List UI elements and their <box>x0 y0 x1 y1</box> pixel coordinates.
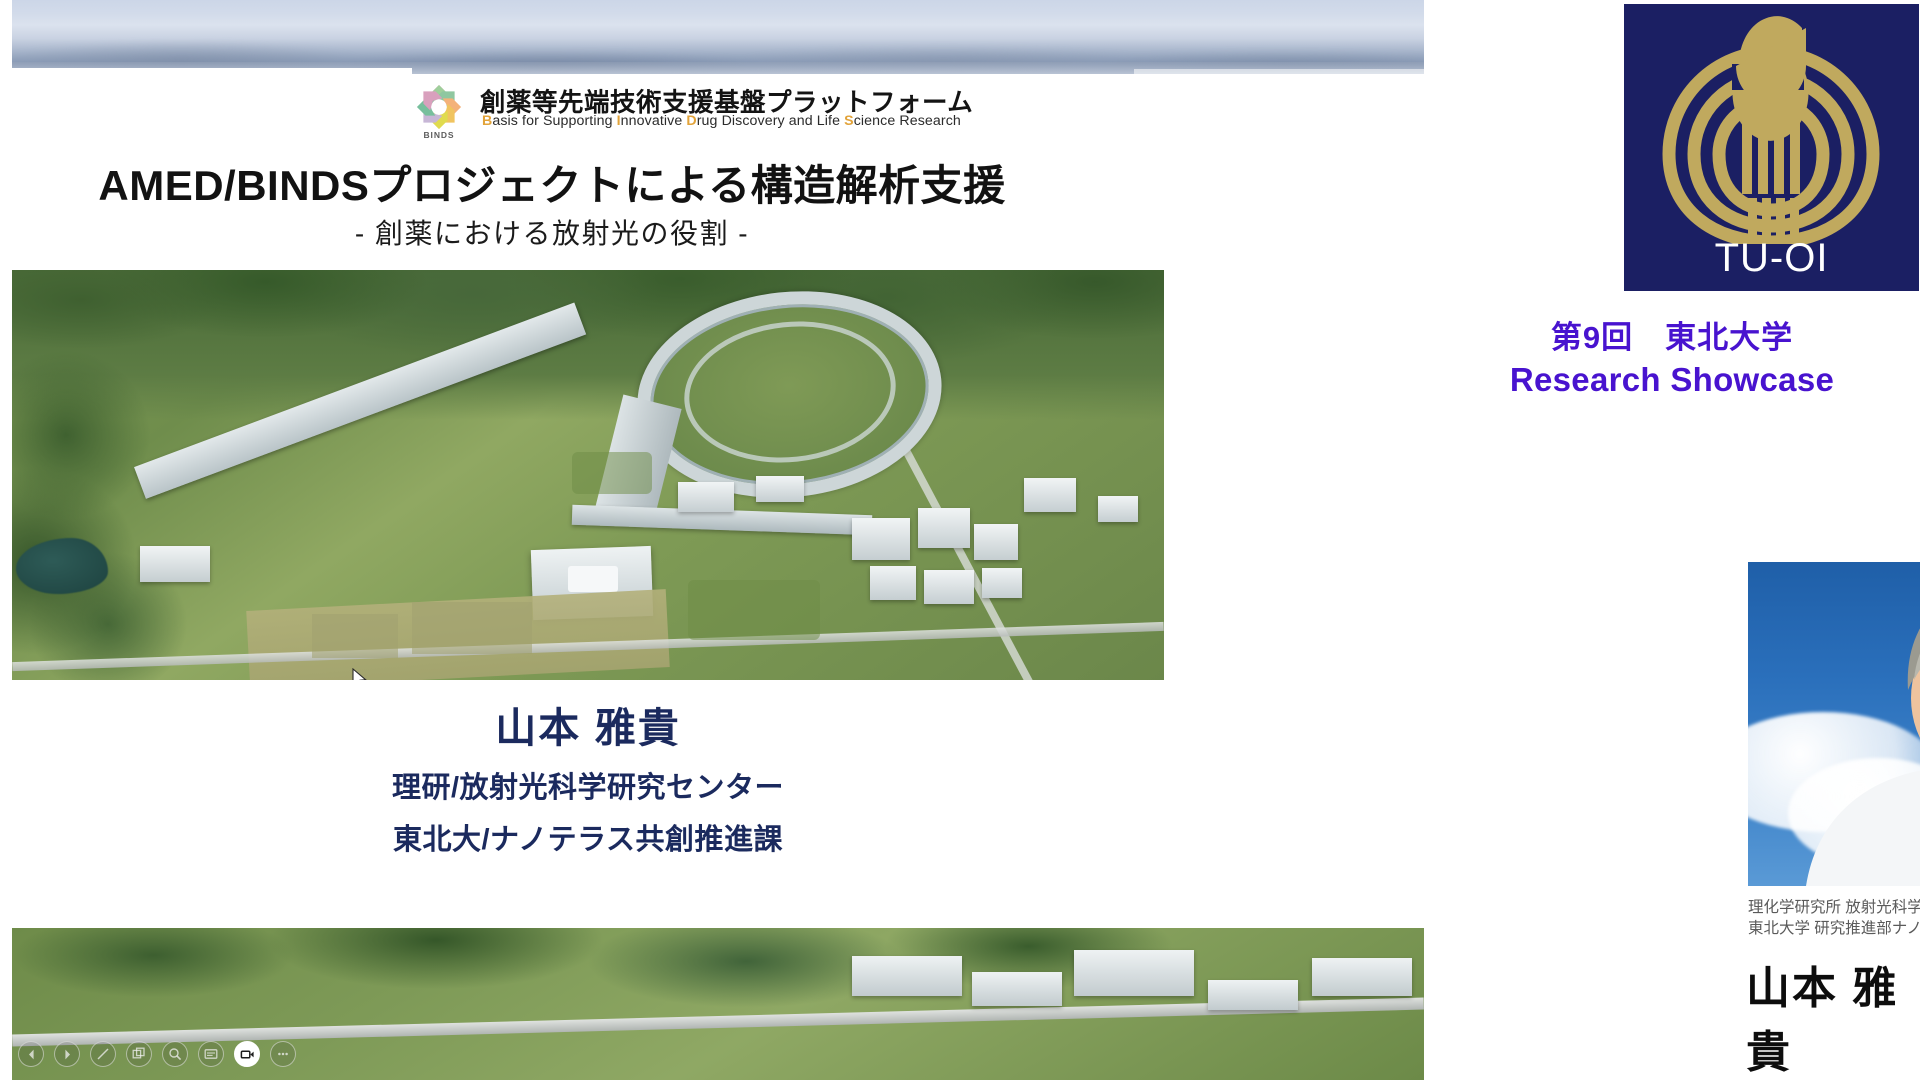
building <box>140 546 210 582</box>
building <box>870 566 916 600</box>
binds-subtitle-text: cience Research <box>854 113 961 129</box>
ground-plot <box>412 602 532 654</box>
previous-slide-sliver[interactable] <box>12 0 1424 74</box>
building <box>1312 958 1412 996</box>
binds-subtitle-en: Basis for Supporting Innovative Drug Dis… <box>482 113 961 129</box>
building <box>1098 496 1138 522</box>
pen-slash-icon <box>95 1046 111 1062</box>
building <box>1074 950 1194 996</box>
binds-acronym-letter: D <box>686 113 696 129</box>
view-options-button[interactable] <box>126 1041 152 1067</box>
tuoi-emblem-icon <box>1624 4 1919 244</box>
presenter-figure <box>1748 562 1920 886</box>
building <box>756 476 804 502</box>
presentation-toolbar[interactable] <box>18 1036 296 1072</box>
binds-acronym-letter: S <box>844 113 854 129</box>
facility-aerial-image <box>12 270 1164 680</box>
play-icon <box>61 1048 74 1061</box>
shared-slide-viewport[interactable]: BINDS 創薬等先端技術支援基盤プラットフォーム Basis for Supp… <box>0 0 1424 1080</box>
windows-icon <box>132 1047 146 1061</box>
chevron-left-icon <box>25 1048 38 1061</box>
binds-acronym-letter: B <box>482 113 492 129</box>
presenter-name: 山本 雅貴 <box>12 694 1164 754</box>
subtitles-icon <box>204 1047 218 1061</box>
binds-logo-lockup: BINDS 創薬等先端技術支援基盤プラットフォーム Basis for Supp… <box>410 82 1050 144</box>
previous-slide-button[interactable] <box>18 1041 44 1067</box>
more-options-button[interactable] <box>270 1041 296 1067</box>
building <box>974 524 1018 560</box>
slide-subtitle: - 創薬における放射光の役割 - <box>12 212 1092 252</box>
event-title-line2: Research Showcase <box>1424 361 1920 399</box>
binds-subtitle-text: upporting <box>553 113 617 129</box>
captions-button[interactable] <box>198 1041 224 1067</box>
ellipsis-icon <box>276 1047 290 1061</box>
zoom-in-button[interactable] <box>162 1041 188 1067</box>
participant-video-tile[interactable] <box>1748 562 1920 886</box>
tuoi-logo: TU-OI <box>1624 4 1919 291</box>
experimental-hall-roof <box>568 566 618 592</box>
participant-caption-line2: 東北大学 研究推進部ナノテラス共創推進課 特任教授(客員) <box>1748 919 1920 940</box>
lawn <box>572 452 652 494</box>
slide-presenter-block: 山本 雅貴 理研/放射光科学研究センター 東北大/ナノテラス共創推進課 <box>12 694 1164 858</box>
building <box>852 956 962 996</box>
binds-subtitle-text: rug Discovery and Life <box>697 113 844 129</box>
tuoi-logo-text: TU-OI <box>1624 236 1919 281</box>
magnifier-icon <box>168 1047 182 1061</box>
building <box>1208 980 1298 1010</box>
binds-subtitle-text: S <box>543 113 553 129</box>
building <box>1024 478 1076 512</box>
current-slide[interactable]: BINDS 創薬等先端技術支援基盤プラットフォーム Basis for Supp… <box>12 74 1424 928</box>
building <box>678 482 734 512</box>
video-button[interactable] <box>234 1041 260 1067</box>
participant-caption: 理化学研究所 放射光科学研究センター部門長 東北大学 研究推進部ナノテラス共創推… <box>1748 898 1920 940</box>
meeting-sidebar: TU-OI 第9回 東北大学 Research Showcase <box>1424 0 1920 1080</box>
building <box>918 508 970 548</box>
building <box>924 570 974 604</box>
presenter-affiliation-2: 東北大/ナノテラス共創推進課 <box>12 816 1164 858</box>
participant-caption-line1: 理化学研究所 放射光科学研究センター部門長 <box>1748 898 1920 919</box>
binds-flower-icon: BINDS <box>410 84 468 144</box>
building <box>972 972 1062 1006</box>
presenter-affiliation-1: 理研/放射光科学研究センター <box>12 764 1164 806</box>
video-camera-icon <box>240 1047 255 1062</box>
binds-subtitle-text: asis for <box>492 113 543 129</box>
binds-subtitle-text: nnovative <box>621 113 687 129</box>
next-slide-button[interactable] <box>54 1041 80 1067</box>
binds-petal-svg <box>410 84 468 132</box>
binds-logo-caption: BINDS <box>410 130 468 140</box>
screen-root: BINDS 創薬等先端技術支援基盤プラットフォーム Basis for Supp… <box>0 0 1920 1080</box>
participant-name: 山本 雅貴 <box>1746 952 1920 1080</box>
event-title-block: 第9回 東北大学 Research Showcase <box>1424 312 1920 399</box>
slide-title: AMED/BINDSプロジェクトによる構造解析支援 <box>12 152 1092 213</box>
building <box>982 568 1022 598</box>
event-title-line1: 第9回 東北大学 <box>1424 312 1920 357</box>
ground-plot <box>312 614 398 658</box>
lawn <box>688 580 820 640</box>
laser-pointer-button[interactable] <box>90 1041 116 1067</box>
building <box>852 518 910 560</box>
